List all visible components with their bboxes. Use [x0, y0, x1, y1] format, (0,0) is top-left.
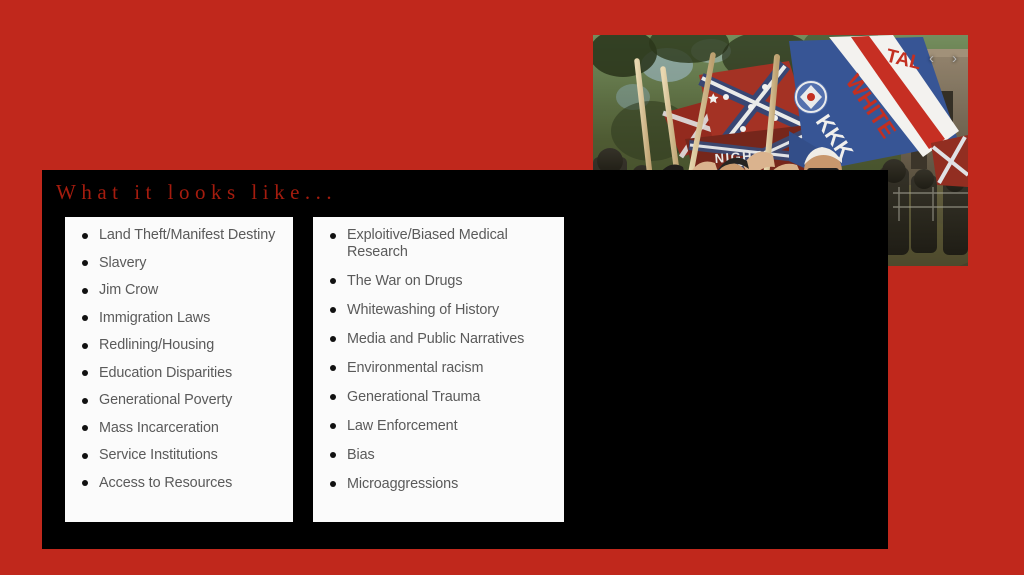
list-item: Law Enforcement [327, 418, 554, 435]
list-item: Generational Trauma [327, 389, 554, 406]
page-title: What it looks like... [56, 180, 337, 205]
list-item: Education Disparities [79, 365, 283, 382]
left-list-card: Land Theft/Manifest Destiny Slavery Jim … [65, 217, 293, 522]
list-item: Slavery [79, 255, 283, 272]
list-item: Microaggressions [327, 476, 554, 493]
list-item: Whitewashing of History [327, 302, 554, 319]
list-item: The War on Drugs [327, 273, 554, 290]
list-item: Land Theft/Manifest Destiny [79, 227, 283, 244]
list-item: Immigration Laws [79, 310, 283, 327]
carousel-next-icon[interactable]: › [952, 51, 957, 66]
list-item: Environmental racism [327, 360, 554, 377]
list-item: Generational Poverty [79, 392, 283, 409]
list-item: Jim Crow [79, 282, 283, 299]
list-item: Mass Incarceration [79, 420, 283, 437]
right-list-card: Exploitive/Biased Medical Research The W… [313, 217, 564, 522]
content-panel: What it looks like... Land Theft/Manifes… [42, 170, 888, 549]
list-item: Access to Resources [79, 475, 283, 492]
list-item: Bias [327, 447, 554, 464]
list-item: Exploitive/Biased Medical Research [327, 227, 554, 260]
carousel-prev-icon[interactable]: ‹ [929, 51, 934, 66]
right-bullet-list: Exploitive/Biased Medical Research The W… [327, 227, 554, 512]
list-item: Redlining/Housing [79, 337, 283, 354]
left-bullet-list: Land Theft/Manifest Destiny Slavery Jim … [79, 227, 283, 512]
list-item: Service Institutions [79, 447, 283, 464]
slide-canvas: NIGHTS TAL WHITE KKK [0, 0, 1024, 575]
list-item: Media and Public Narratives [327, 331, 554, 348]
